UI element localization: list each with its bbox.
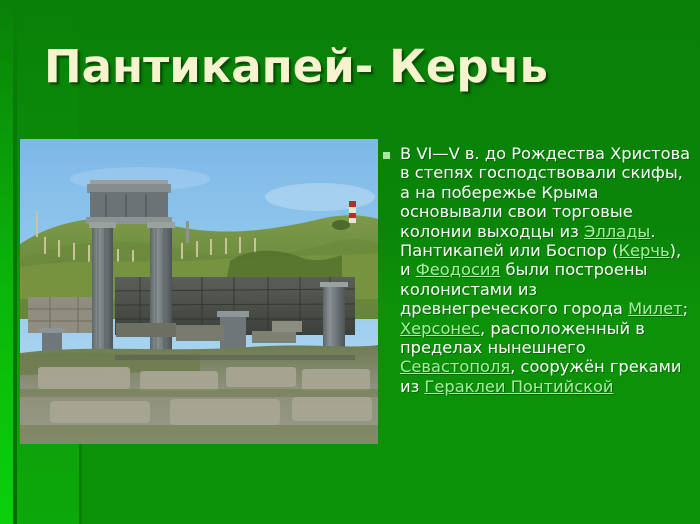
inline-link[interactable]: Гераклеи Понтийской [424, 377, 613, 396]
presentation-slide: Пантикапей- Керчь [0, 0, 700, 524]
inline-text: ; [683, 299, 689, 318]
inline-link[interactable]: Феодосия [416, 260, 501, 279]
inline-link[interactable]: Милет [628, 299, 683, 318]
ruins-photo-illustration [20, 139, 378, 444]
square-bullet-icon [383, 152, 390, 159]
inline-link[interactable]: Эллады [584, 222, 650, 241]
left-accent-edge [79, 440, 82, 524]
ruins-photo [20, 139, 378, 444]
left-accent-band [0, 0, 13, 524]
inline-link[interactable]: Севастополя [400, 357, 510, 376]
slide-title: Пантикапей- Керчь [44, 44, 548, 89]
content-text-block: В VI—V в. до Рождества Христова в степях… [383, 144, 695, 396]
bullet-item: В VI—V в. до Рождества Христова в степях… [383, 144, 695, 396]
paragraph-text: В VI—V в. до Рождества Христова в степях… [400, 144, 695, 396]
inline-link[interactable]: Херсонес [400, 319, 480, 338]
inline-link[interactable]: Керчь [618, 241, 669, 260]
